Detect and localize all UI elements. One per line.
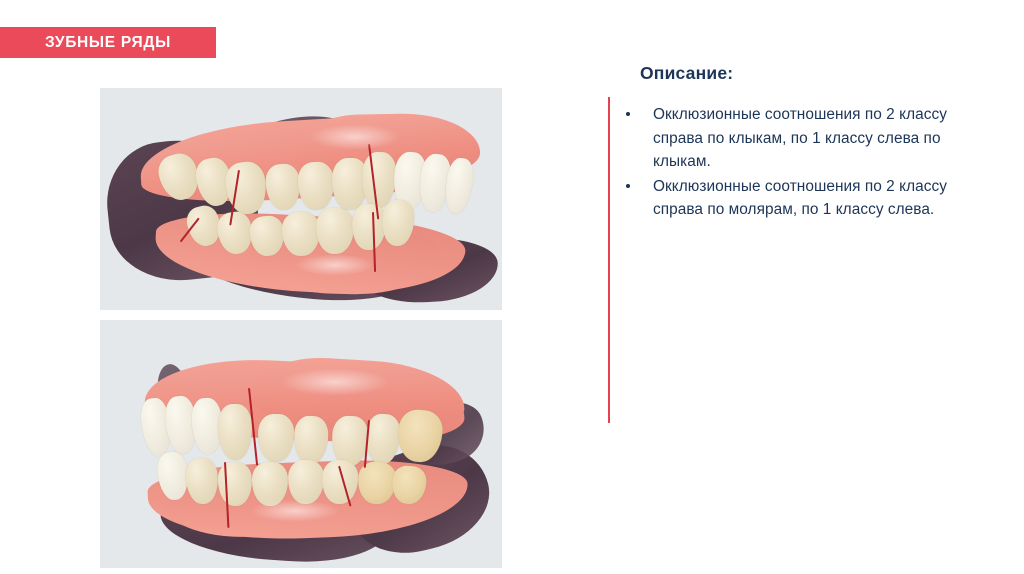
list-item: Окклюзионные соотношения по 2 классу спр…: [622, 175, 982, 222]
bullet-text: Окклюзионные соотношения по 2 классу спр…: [653, 178, 947, 219]
bullet-dot-icon: [626, 112, 630, 116]
upper-tooth-1-5: [297, 161, 335, 210]
description-accent-rule: [608, 97, 610, 423]
list-item: Окклюзионные соотношения по 2 классу спр…: [622, 103, 982, 174]
scan-canvas-1: [100, 88, 502, 310]
upper-tooth-1-4: [264, 163, 301, 211]
dental-scan-left-lateral[interactable]: [100, 320, 502, 568]
upper-tooth-2-5: [258, 414, 295, 463]
description-heading: Описание:: [640, 63, 733, 84]
upper-tooth-2-4: [218, 404, 253, 461]
slide-title-banner: ЗУБНЫЕ РЯДЫ: [0, 27, 216, 58]
slide-title-text: ЗУБНЫЕ РЯДЫ: [45, 35, 171, 51]
bullet-text: Окклюзионные соотношения по 2 классу спр…: [653, 106, 947, 170]
bullet-dot-icon: [626, 184, 630, 188]
figures-column: [100, 88, 502, 568]
dental-scan-right-lateral[interactable]: [100, 88, 502, 310]
upper-tooth-2-6: [293, 415, 329, 464]
scan-canvas-2: [100, 320, 502, 568]
description-bullet-list: Окклюзионные соотношения по 2 классу спр…: [622, 103, 982, 223]
